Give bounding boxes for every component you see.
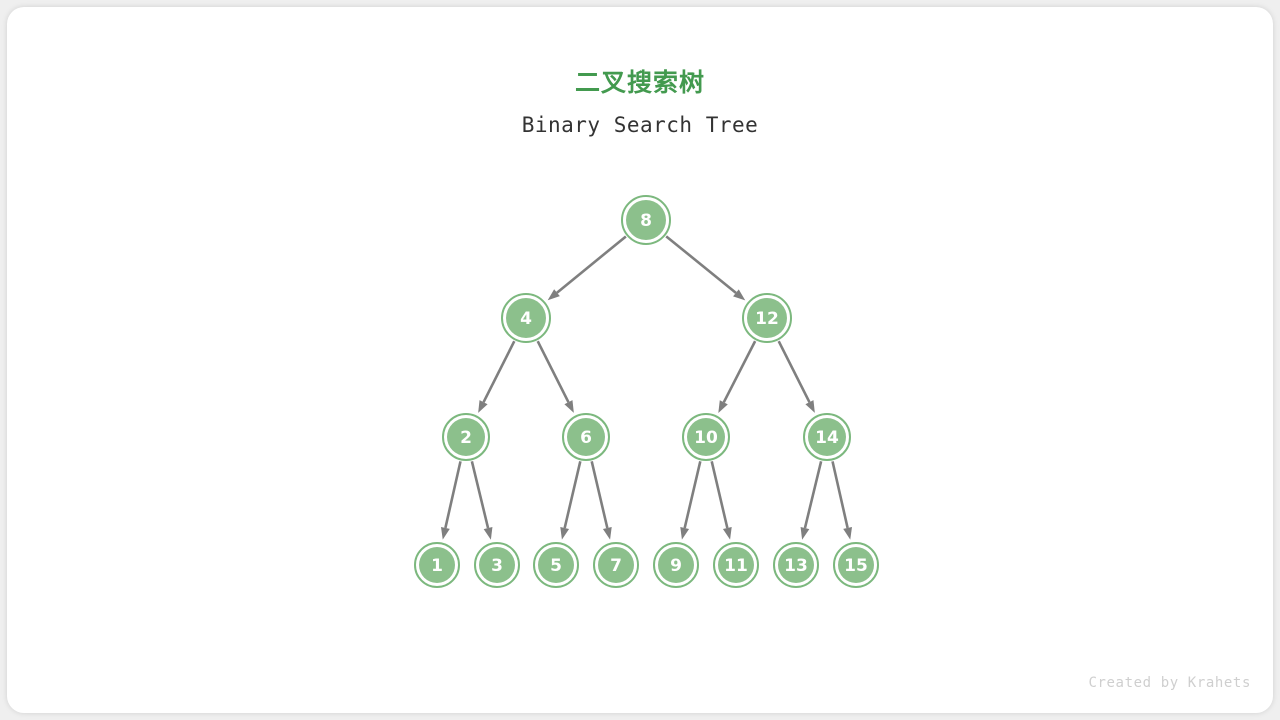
tree-node-label: 8 — [640, 211, 652, 231]
tree-edge — [833, 461, 852, 539]
binary-search-tree-diagram: 841226101413579111315 — [7, 7, 1273, 713]
tree-edge — [441, 461, 460, 539]
tree-edge-line — [445, 461, 460, 528]
tree-node-15[interactable]: 15 — [834, 543, 878, 587]
tree-edge — [712, 461, 732, 539]
arrowhead-icon — [805, 400, 814, 413]
tree-node-label: 6 — [580, 428, 592, 448]
tree-node-1[interactable]: 1 — [415, 543, 459, 587]
tree-edge — [666, 236, 745, 300]
tree-edge-line — [565, 461, 581, 528]
tree-node-label: 7 — [610, 556, 622, 576]
tree-nodes-layer: 841226101413579111315 — [415, 196, 878, 587]
arrowhead-icon — [718, 400, 727, 413]
tree-edge — [548, 236, 626, 300]
tree-edge-line — [557, 236, 626, 292]
tree-node-9[interactable]: 9 — [654, 543, 698, 587]
tree-node-label: 2 — [460, 428, 472, 448]
tree-node-7[interactable]: 7 — [594, 543, 638, 587]
tree-edges-layer — [441, 236, 852, 539]
arrowhead-icon — [801, 527, 810, 540]
tree-node-5[interactable]: 5 — [534, 543, 578, 587]
arrowhead-icon — [441, 527, 450, 540]
tree-node-3[interactable]: 3 — [475, 543, 519, 587]
tree-node-2[interactable]: 2 — [443, 414, 489, 460]
tree-edge-line — [484, 341, 515, 402]
tree-node-label: 1 — [431, 556, 443, 576]
tree-node-label: 11 — [724, 556, 748, 576]
tree-edge-line — [592, 461, 608, 528]
tree-edge-line — [666, 236, 736, 292]
tree-edge — [472, 461, 493, 539]
tree-edge — [592, 461, 612, 539]
tree-node-6[interactable]: 6 — [563, 414, 609, 460]
diagram-card: 二叉搜索树 Binary Search Tree 841226101413579… — [7, 7, 1273, 713]
tree-edge — [560, 461, 580, 539]
credit-text: Created by Krahets — [1088, 675, 1251, 691]
tree-node-label: 10 — [694, 428, 718, 448]
tree-node-4[interactable]: 4 — [502, 294, 550, 342]
tree-node-11[interactable]: 11 — [714, 543, 758, 587]
arrowhead-icon — [564, 400, 573, 413]
tree-edge-line — [472, 461, 488, 528]
tree-edge-line — [538, 341, 569, 402]
tree-node-label: 5 — [550, 556, 562, 576]
tree-edge-line — [685, 461, 701, 528]
tree-edge-line — [724, 341, 755, 402]
tree-node-label: 14 — [815, 428, 839, 448]
tree-node-8[interactable]: 8 — [622, 196, 670, 244]
tree-node-label: 3 — [491, 556, 503, 576]
tree-edge — [478, 341, 514, 413]
tree-node-14[interactable]: 14 — [804, 414, 850, 460]
tree-node-10[interactable]: 10 — [683, 414, 729, 460]
arrowhead-icon — [843, 527, 852, 540]
tree-edge-line — [779, 341, 810, 402]
tree-node-12[interactable]: 12 — [743, 294, 791, 342]
tree-edge — [680, 461, 700, 539]
tree-node-label: 4 — [520, 309, 532, 329]
arrowhead-icon — [560, 527, 569, 540]
tree-node-label: 12 — [755, 309, 779, 329]
tree-edge-line — [712, 461, 728, 528]
tree-edge — [779, 341, 815, 413]
tree-edge — [538, 341, 574, 413]
tree-node-label: 13 — [784, 556, 808, 576]
arrowhead-icon — [484, 527, 493, 540]
tree-edge-line — [833, 461, 848, 528]
arrowhead-icon — [680, 527, 689, 540]
tree-node-label: 9 — [670, 556, 682, 576]
tree-edge-line — [805, 461, 821, 528]
tree-edge — [718, 341, 755, 413]
tree-edge — [801, 461, 822, 539]
arrowhead-icon — [478, 400, 487, 413]
tree-node-13[interactable]: 13 — [774, 543, 818, 587]
arrowhead-icon — [723, 527, 732, 540]
tree-node-label: 15 — [844, 556, 868, 576]
arrowhead-icon — [603, 527, 612, 540]
